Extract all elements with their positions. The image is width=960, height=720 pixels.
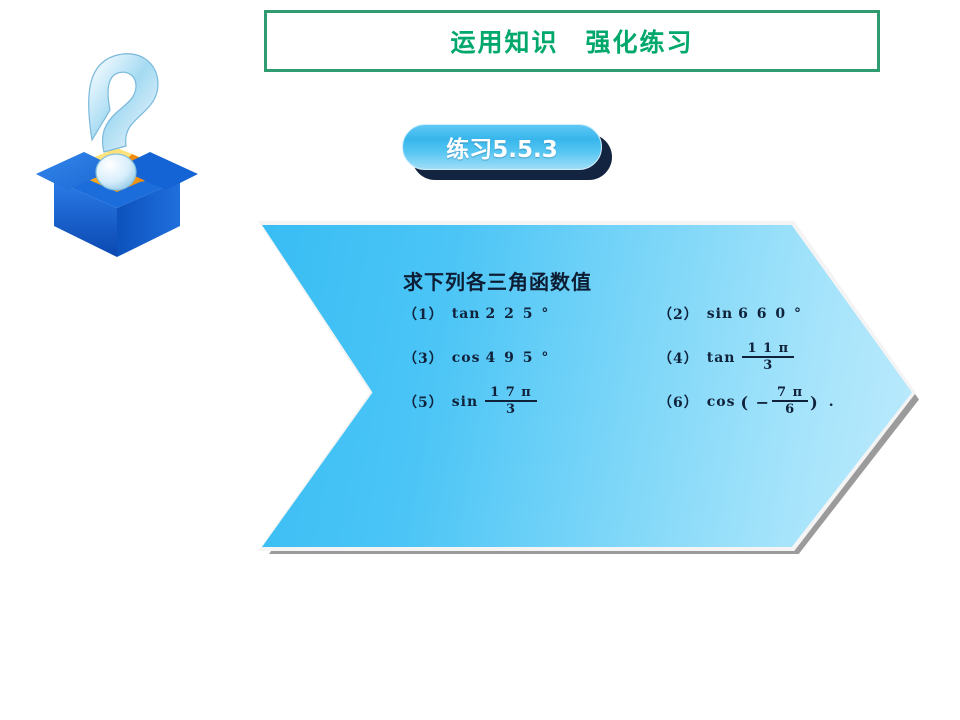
fraction-denominator: 3 [501, 402, 521, 416]
item-function: sin [707, 306, 733, 322]
exercise-heading: 求下列各三角函数值 [403, 266, 903, 295]
exercise-row: （5） sin 1 7 π 3 （6） cos ( − 7 π 6 ) . [403, 389, 903, 433]
item-label: （4） [658, 348, 699, 368]
slide-title-box: 运用知识 强化练习 [264, 10, 880, 72]
item-function: sin [452, 394, 478, 410]
arrow-banner: 求下列各三角函数值 （1） tan 2 2 5 ° （2） sin 6 6 0 … [255, 218, 925, 558]
item-label: （3） [403, 348, 444, 368]
item-function: cos [452, 350, 481, 366]
item-label: （6） [658, 392, 699, 412]
question-mark-box-illustration [32, 12, 202, 257]
exercise-badge: 练习5.5.3 [402, 124, 617, 182]
item-function: tan [707, 350, 736, 366]
exercise-item-5: （5） sin 1 7 π 3 [403, 389, 658, 415]
exercise-row: （1） tan 2 2 5 ° （2） sin 6 6 0 ° [403, 301, 903, 345]
exercise-item-6: （6） cos ( − 7 π 6 ) . [658, 389, 903, 415]
open-paren-with-minus: ( − [741, 393, 771, 412]
question-mark-box-icon [32, 12, 202, 257]
exercise-item-3: （3） cos 4 9 5 ° [403, 345, 658, 371]
item-label: （5） [403, 392, 444, 412]
fraction-numerator: 1 7 π [485, 386, 537, 400]
item-argument: 4 9 5 ° [486, 350, 551, 366]
item-argument: 6 6 0 ° [738, 306, 803, 322]
fraction-denominator: 3 [758, 358, 778, 372]
exercise-item-2: （2） sin 6 6 0 ° [658, 301, 903, 327]
fraction: 1 7 π 3 [485, 386, 537, 416]
badge-label: 练习5.5.3 [446, 130, 558, 164]
fraction-numerator: 7 π [772, 386, 808, 400]
item-label: （2） [658, 304, 699, 324]
item-label: （1） [403, 304, 444, 324]
close-paren: ) [810, 393, 819, 412]
badge-pill: 练习5.5.3 [402, 124, 602, 170]
exercise-content: 求下列各三角函数值 （1） tan 2 2 5 ° （2） sin 6 6 0 … [403, 266, 903, 433]
fraction: 1 1 π 3 [742, 342, 794, 372]
page-title: 运用知识 强化练习 [450, 23, 693, 59]
item-argument: 2 2 5 ° [485, 306, 550, 322]
exercise-item-4: （4） tan 1 1 π 3 [658, 345, 903, 371]
item-function: cos [707, 394, 736, 410]
fraction: 7 π 6 [772, 386, 808, 416]
fraction-denominator: 6 [780, 402, 800, 416]
exercise-row: （3） cos 4 9 5 ° （4） tan 1 1 π 3 [403, 345, 903, 389]
fraction-numerator: 1 1 π [742, 342, 794, 356]
trailing-mark: . [829, 394, 835, 410]
exercise-item-1: （1） tan 2 2 5 ° [403, 301, 658, 327]
item-function: tan [452, 306, 481, 322]
